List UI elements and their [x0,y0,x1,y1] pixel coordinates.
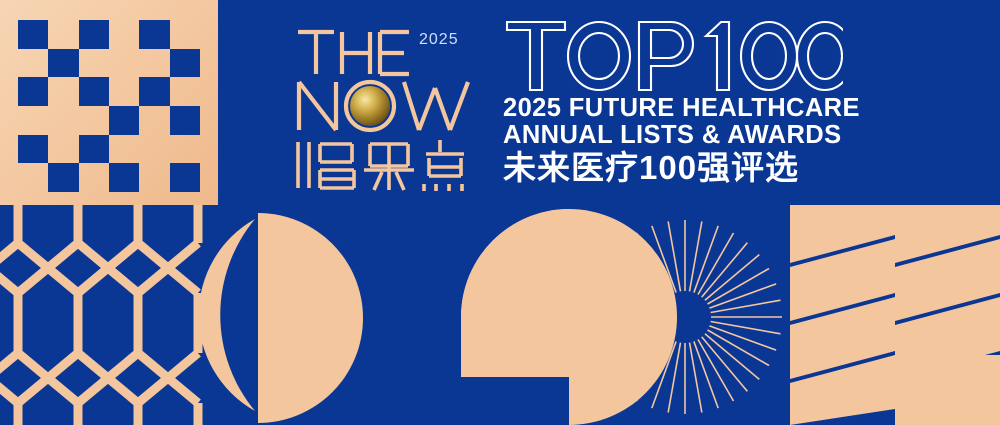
starburst-ray [708,269,769,305]
starburst-ray [708,330,769,366]
checker-cell [139,135,169,164]
checker-cell [170,77,200,106]
checker-cell [109,135,139,164]
vesica-leaf-shape [199,219,255,411]
checker-tile [0,0,218,205]
starburst-ray [711,322,781,334]
logo-year-badge: 2025 [419,31,459,49]
checker-cell [139,20,169,49]
checker-cell [170,106,200,135]
subtitle-chinese: 未来医疗100强评选 [503,149,843,186]
starburst-ray [690,221,702,291]
subtitle-line-2: ANNUAL LISTS & AWARDS [503,123,843,148]
checker-cell [170,20,200,49]
checker-cell [79,163,109,192]
chevron-stripes-block [790,205,1000,425]
checker-cell [139,49,169,78]
checker-cell [18,135,48,164]
checker-grid [18,20,200,192]
checker-cell [79,106,109,135]
the-now-logo: 2025 [292,18,482,193]
checker-cell [48,135,78,164]
checker-cell [170,135,200,164]
checker-cell [18,49,48,78]
checker-cell [109,49,139,78]
checker-cell [48,77,78,106]
checker-cell [109,106,139,135]
checker-cell [18,106,48,135]
checker-cell [48,49,78,78]
starburst-ray [698,233,734,294]
checker-cell [79,20,109,49]
top100-outline-title [503,16,843,94]
checker-cell [139,106,169,135]
checker-cell [79,49,109,78]
checker-cell [109,163,139,192]
checker-cell [79,135,109,164]
half-circle-shape [258,213,363,423]
starburst-ray [711,300,781,312]
checker-cell [48,20,78,49]
gold-sphere-o [350,86,390,126]
checker-cell [109,20,139,49]
checker-cell [48,106,78,135]
checker-cell [109,77,139,106]
headline-block: 2025 FUTURE HEALTHCARE ANNUAL LISTS & AW… [503,16,843,186]
checker-cell [48,163,78,192]
checker-cell [170,163,200,192]
checker-cell [170,49,200,78]
checker-cell [139,77,169,106]
award-banner: 2025 2025 FUTURE HEALTHCARE [0,0,1000,425]
checker-cell [79,77,109,106]
checker-cell [18,20,48,49]
starburst-ray [698,340,734,401]
checker-cell [18,163,48,192]
checker-cell [139,163,169,192]
checker-cell [18,77,48,106]
subtitle-line-1: 2025 FUTURE HEALTHCARE [503,96,843,121]
starburst-ray [690,343,702,413]
